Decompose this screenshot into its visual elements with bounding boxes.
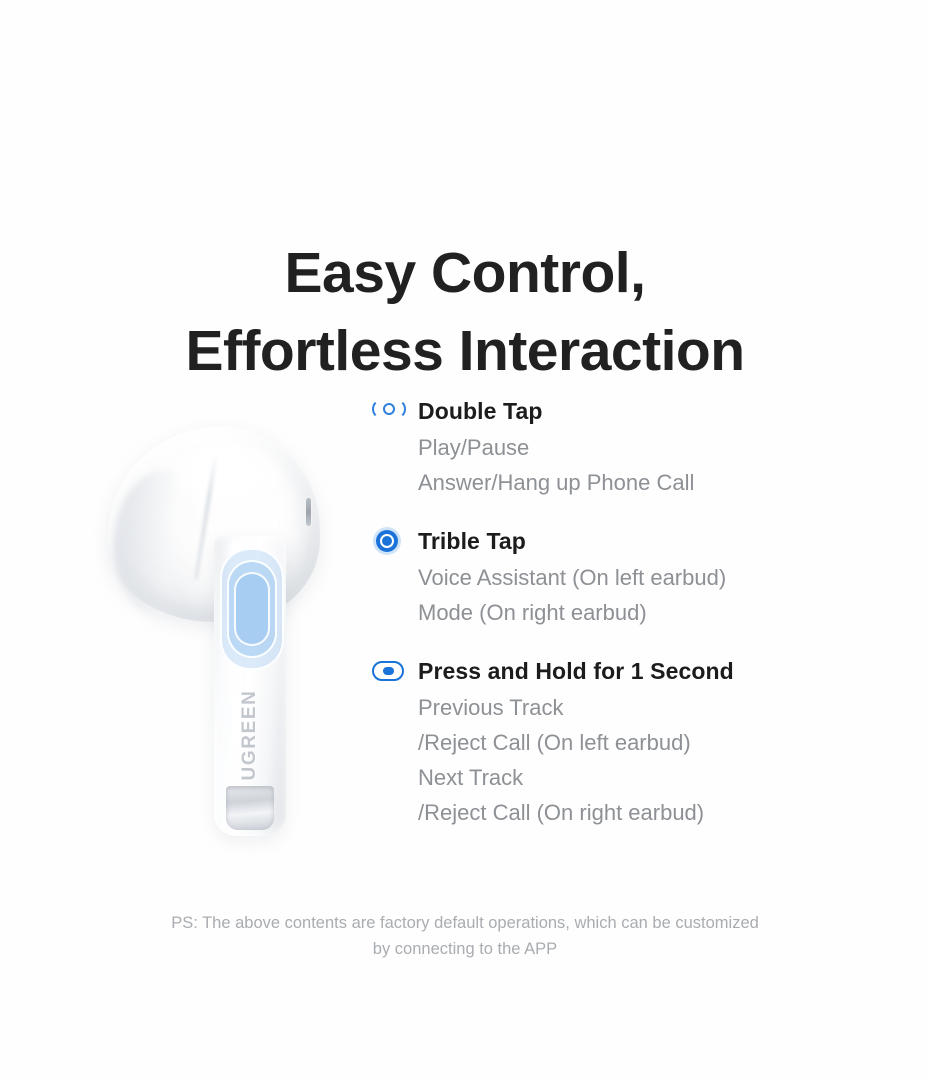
touch-ring-inner	[234, 572, 270, 646]
headline-line-2: Effortless Interaction	[0, 312, 930, 390]
feature-description: Previous Track /Reject Call (On left ear…	[372, 690, 892, 830]
feature-header: Trible Tap	[372, 526, 892, 556]
feature-line: Voice Assistant (On left earbud)	[418, 560, 892, 595]
feature-header: Press and Hold for 1 Second	[372, 656, 892, 686]
feature-title: Trible Tap	[418, 528, 526, 555]
press-and-hold-dot	[383, 667, 394, 675]
feature-title: Double Tap	[418, 398, 543, 425]
footnote-line-1: PS: The above contents are factory defau…	[0, 910, 930, 936]
feature-list: Double Tap Play/Pause Answer/Hang up Pho…	[372, 396, 892, 856]
touch-control-zone	[220, 548, 280, 666]
footnote: PS: The above contents are factory defau…	[0, 910, 930, 962]
feature-description: Voice Assistant (On left earbud) Mode (O…	[372, 560, 892, 630]
earbud-product-image: UGREEN	[104, 418, 344, 858]
triple-tap-icon	[372, 527, 418, 555]
footnote-line-2: by connecting to the APP	[0, 936, 930, 962]
double-tap-icon-glyph	[372, 398, 406, 424]
earbud-stem: UGREEN	[214, 536, 286, 836]
feature-line: Answer/Hang up Phone Call	[418, 465, 892, 500]
page-title: Easy Control, Effortless Interaction	[0, 234, 930, 390]
feature-line: /Reject Call (On right earbud)	[418, 795, 892, 830]
headline-line-1: Easy Control,	[0, 234, 930, 312]
feature-header: Double Tap	[372, 396, 892, 426]
feature-line: Mode (On right earbud)	[418, 595, 892, 630]
feature-line: Previous Track	[418, 690, 892, 725]
double-tap-icon	[372, 398, 418, 424]
double-tap-arc-right	[394, 399, 406, 419]
brand-logo-text: UGREEN	[239, 677, 261, 793]
feature-description: Play/Pause Answer/Hang up Phone Call	[372, 430, 892, 500]
press-and-hold-icon-glyph	[372, 660, 406, 682]
triple-tap-dot	[385, 539, 390, 544]
feature-item-trible-tap: Trible Tap Voice Assistant (On left earb…	[372, 526, 892, 630]
feature-line: Next Track	[418, 760, 892, 795]
promo-page: Easy Control, Effortless Interaction UGR…	[0, 0, 930, 1082]
charging-contact	[226, 786, 274, 830]
press-and-hold-icon	[372, 660, 418, 682]
feature-line: /Reject Call (On left earbud)	[418, 725, 892, 760]
feature-title: Press and Hold for 1 Second	[418, 658, 734, 685]
feature-line: Play/Pause	[418, 430, 892, 465]
feature-item-press-and-hold: Press and Hold for 1 Second Previous Tra…	[372, 656, 892, 830]
microphone-slot-icon	[306, 498, 311, 526]
earbud-bud-highlight	[172, 444, 284, 510]
feature-item-double-tap: Double Tap Play/Pause Answer/Hang up Pho…	[372, 396, 892, 500]
triple-tap-icon-glyph	[372, 527, 406, 555]
